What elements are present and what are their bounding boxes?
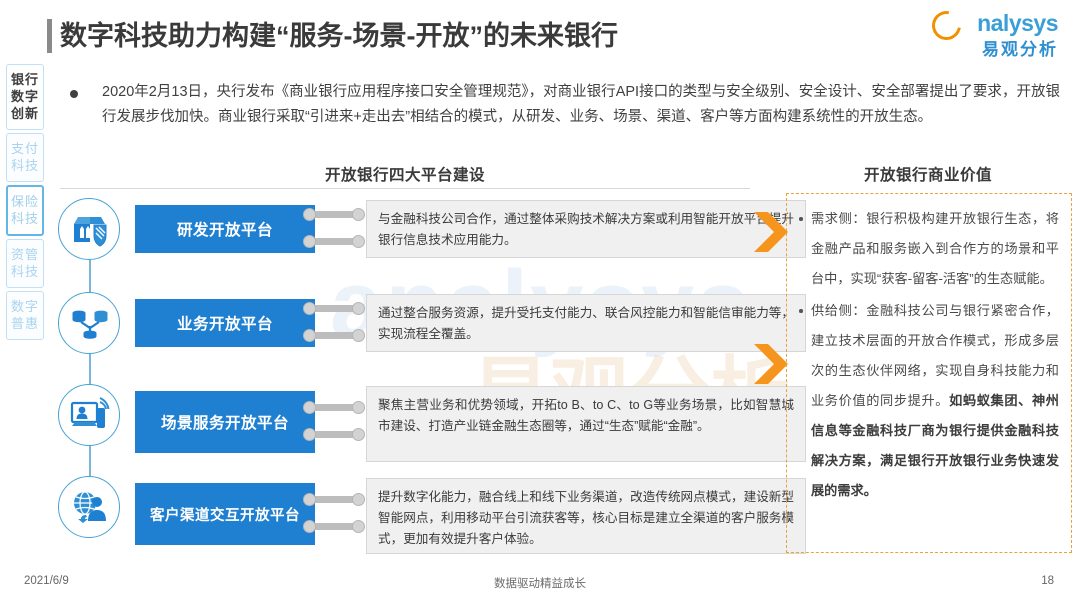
slide-footer: 2021/6/9 数据驱动精益成长 18 xyxy=(0,575,1080,599)
page-title: 数字科技助力构建“服务-场景-开放”的未来银行 xyxy=(60,14,618,53)
bullet-icon xyxy=(799,309,803,313)
sidebar-item-asset-management-tech[interactable]: 资管科技 xyxy=(6,239,44,288)
platform-desc-4: 提升数字化能力，融合线上和线下业务渠道，改造传统网点模式，建设新型智能网点，利用… xyxy=(366,478,806,554)
sidebar-item-label: 保险科技 xyxy=(8,193,42,227)
logo-text-cn: 易观分析 xyxy=(918,35,1058,60)
sidebar[interactable]: 银行数字创新 支付科技 保险科技 资管科技 数字普惠 xyxy=(6,64,46,343)
value-item-demand-side: 需求侧：银行积极构建开放银行生态，将金融产品和服务嵌入到合作方的场景和平台中，实… xyxy=(797,204,1059,294)
video-service-icon xyxy=(58,384,120,446)
intro-text: 2020年2月13日，央行发布《商业银行应用程序接口安全管理规范》，对商业银行A… xyxy=(102,80,1060,130)
bullet-icon xyxy=(799,217,803,221)
sidebar-item-label: 银行数字创新 xyxy=(7,71,43,122)
footer-tagline: 数据驱动精益成长 xyxy=(0,575,1080,591)
analysys-logo: nalysys 易观分析 xyxy=(918,10,1058,58)
box-shield-icon xyxy=(58,198,120,260)
title-accent-bar xyxy=(47,19,52,53)
sidebar-item-bank-digital-innovation[interactable]: 银行数字创新 xyxy=(6,64,44,130)
value-item-supply-side: 供给侧：金融科技公司与银行紧密合作，建立技术层面的开放合作模式，形成多层次的生态… xyxy=(797,296,1059,506)
intro-paragraph: 2020年2月13日，央行发布《商业银行应用程序接口安全管理规范》，对商业银行A… xyxy=(70,80,1060,130)
platform-desc-1: 与金融科技公司合作，通过整体采购技术解决方案或利用智能开放平台提升银行信息技术应… xyxy=(366,200,806,258)
platform-name-box-1[interactable]: 研发开放平台 xyxy=(135,205,315,253)
sidebar-item-label: 支付科技 xyxy=(7,140,43,174)
business-value-box: 需求侧：银行积极构建开放银行生态，将金融产品和服务嵌入到合作方的场景和平台中，实… xyxy=(786,193,1072,553)
timeline-rail xyxy=(89,240,91,510)
right-section-title: 开放银行商业价值 xyxy=(786,163,1070,185)
connector-link-icon-4 xyxy=(303,493,367,537)
value-item-text: 需求侧：银行积极构建开放银行生态，将金融产品和服务嵌入到合作方的场景和平台中，实… xyxy=(811,211,1059,286)
bullet-icon xyxy=(70,90,78,98)
sidebar-item-label: 数字普惠 xyxy=(7,298,43,332)
platform-name-box-3[interactable]: 场景服务开放平台 xyxy=(135,391,315,453)
platform-desc-3: 聚焦主营业务和优势领域，开拓to B、to C、to G等业务场景，比如智慧城市… xyxy=(366,386,806,462)
platform-desc-2: 通过整合服务资源，提升受托支付能力、联合风控能力和智能信审能力等，实现流程全覆盖… xyxy=(366,294,806,352)
slide-header: 数字科技助力构建“服务-场景-开放”的未来银行 nalysys 易观分析 xyxy=(0,0,1080,62)
sidebar-item-insurance-tech[interactable]: 保险科技 xyxy=(6,185,44,236)
platform-name-box-2[interactable]: 业务开放平台 xyxy=(135,299,315,347)
left-section-divider xyxy=(60,188,750,189)
sidebar-item-payment-tech[interactable]: 支付科技 xyxy=(6,133,44,182)
database-network-icon xyxy=(58,292,120,354)
platform-name-box-4[interactable]: 客户渠道交互开放平台 xyxy=(135,483,315,545)
connector-link-icon-3 xyxy=(303,401,367,445)
sidebar-item-digital-inclusive-finance[interactable]: 数字普惠 xyxy=(6,291,44,340)
connector-link-icon-2 xyxy=(303,302,367,346)
connector-link-icon-1 xyxy=(303,208,367,252)
footer-page-number: 18 xyxy=(1041,575,1054,587)
value-item-text: 供给侧：金融科技公司与银行紧密合作，建立技术层面的开放合作模式，形成多层次的生态… xyxy=(811,303,1059,498)
globe-customer-icon xyxy=(58,476,120,538)
sidebar-item-label: 资管科技 xyxy=(7,246,43,280)
left-section-title: 开放银行四大平台建设 xyxy=(60,163,750,185)
